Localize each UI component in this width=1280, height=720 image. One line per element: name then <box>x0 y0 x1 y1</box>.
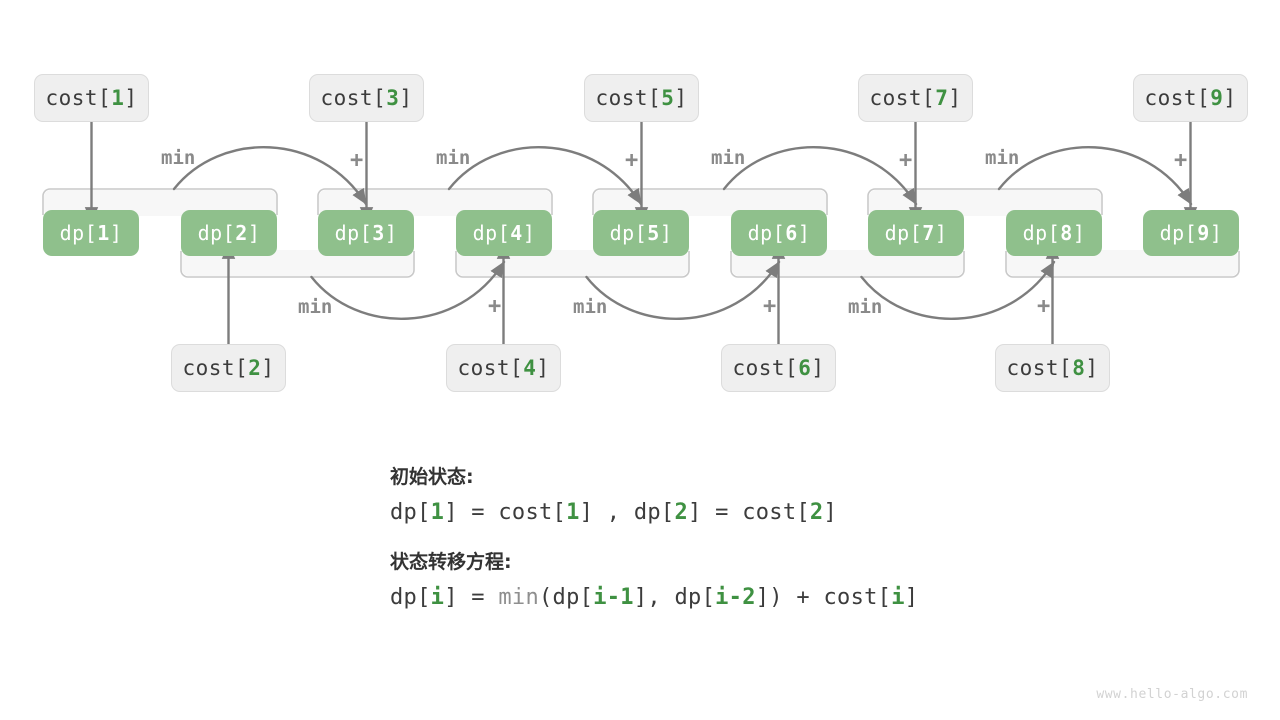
dp-node-4: dp[4] <box>456 210 552 256</box>
cost-node-2: cost[2] <box>171 344 286 392</box>
cost-node-label: cost[4] <box>457 356 549 380</box>
min-arc-bottom-2 <box>862 262 1055 319</box>
cost-node-3: cost[3] <box>309 74 424 122</box>
transition-equation: dp[i] = min(dp[i-1], dp[i-2]) + cost[i] <box>390 585 1150 610</box>
dp-node-3: dp[3] <box>318 210 414 256</box>
transition-heading: 状态转移方程: <box>390 547 1150 574</box>
min-arc-top-1 <box>449 147 641 204</box>
cost-node-1: cost[1] <box>34 74 149 122</box>
dp-node-2: dp[2] <box>181 210 277 256</box>
min-arc-top-3 <box>999 147 1191 204</box>
min-label: min <box>573 296 607 318</box>
plus-label: + <box>1037 294 1050 319</box>
min-arc-bottom-1 <box>587 262 780 319</box>
dp-node-label: dp[7] <box>885 221 948 245</box>
cost-node-label: cost[8] <box>1006 356 1098 380</box>
cost-node-label: cost[3] <box>320 86 412 110</box>
dp-node-5: dp[5] <box>593 210 689 256</box>
dp-node-1: dp[1] <box>43 210 139 256</box>
plus-label: + <box>625 148 638 173</box>
plus-label: + <box>488 294 501 319</box>
dp-node-label: dp[8] <box>1023 221 1086 245</box>
min-label: min <box>711 147 745 169</box>
min-arc-top-0 <box>174 147 366 204</box>
cost-node-label: cost[9] <box>1144 86 1236 110</box>
watermark: www.hello-algo.com <box>1096 687 1248 702</box>
dp-node-label: dp[4] <box>473 221 536 245</box>
plus-label: + <box>899 148 912 173</box>
dp-node-label: dp[5] <box>610 221 673 245</box>
plus-label: + <box>1174 148 1187 173</box>
dp-node-9: dp[9] <box>1143 210 1239 256</box>
dp-node-label: dp[2] <box>198 221 261 245</box>
min-arc-top-2 <box>724 147 916 204</box>
dp-node-6: dp[6] <box>731 210 827 256</box>
cost-node-5: cost[5] <box>584 74 699 122</box>
min-label: min <box>985 147 1019 169</box>
dp-node-7: dp[7] <box>868 210 964 256</box>
cost-node-4: cost[4] <box>446 344 561 392</box>
cost-node-label: cost[2] <box>182 356 274 380</box>
cost-node-label: cost[1] <box>45 86 137 110</box>
dp-node-label: dp[6] <box>748 221 811 245</box>
cost-node-label: cost[6] <box>732 356 824 380</box>
diagram-canvas: dp[1]dp[2]dp[3]dp[4]dp[5]dp[6]dp[7]dp[8]… <box>0 0 1280 720</box>
cost-node-6: cost[6] <box>721 344 836 392</box>
initial-state-heading: 初始状态: <box>390 462 1150 489</box>
dp-node-8: dp[8] <box>1006 210 1102 256</box>
min-label: min <box>436 147 470 169</box>
min-label: min <box>298 296 332 318</box>
dp-node-label: dp[3] <box>335 221 398 245</box>
equations-block: 初始状态: dp[1] = cost[1] , dp[2] = cost[2] … <box>390 462 1150 610</box>
cost-node-8: cost[8] <box>995 344 1110 392</box>
min-arc-bottom-0 <box>312 262 505 319</box>
plus-label: + <box>350 148 363 173</box>
cost-node-9: cost[9] <box>1133 74 1248 122</box>
min-label: min <box>848 296 882 318</box>
plus-label: + <box>763 294 776 319</box>
dp-node-label: dp[9] <box>1160 221 1223 245</box>
dp-node-label: dp[1] <box>60 221 123 245</box>
cost-node-label: cost[5] <box>595 86 687 110</box>
cost-node-7: cost[7] <box>858 74 973 122</box>
initial-state-equation: dp[1] = cost[1] , dp[2] = cost[2] <box>390 500 1150 525</box>
cost-node-label: cost[7] <box>869 86 961 110</box>
min-label: min <box>161 147 195 169</box>
